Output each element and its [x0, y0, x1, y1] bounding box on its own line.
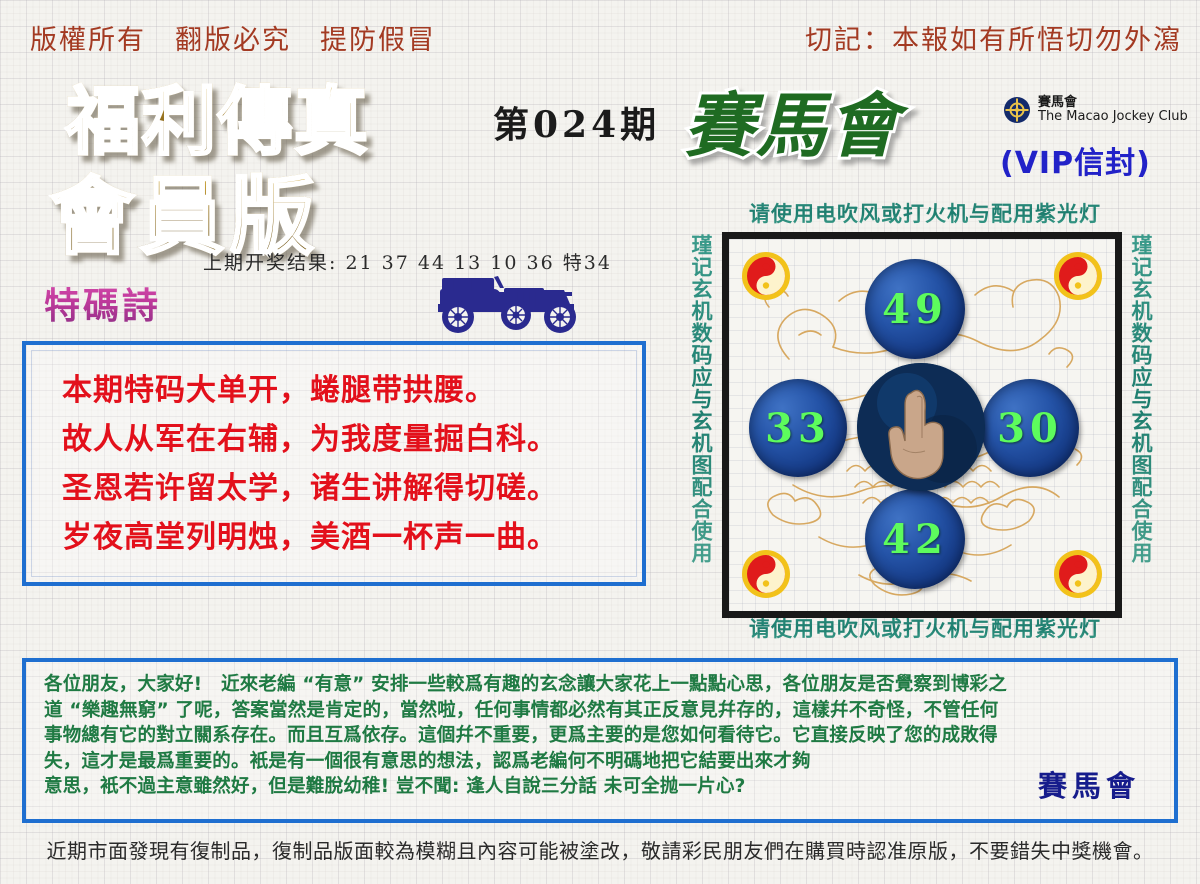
message-line: 各位朋友，大家好! 近來老編 “有意” 安排一些較爲有趣的玄念讓大家花上一點點心… — [44, 672, 1156, 698]
issue-number: 第024期 — [493, 96, 660, 148]
mystic-picture-frame: 49 33 30 42 — [722, 232, 1122, 618]
poem-line: 岁夜高堂列明烛，美酒一杯声一曲。 — [62, 513, 616, 562]
message-signature: 賽馬會 — [1038, 763, 1140, 805]
logo-cn-text: 賽馬會 — [1038, 96, 1188, 110]
macao-jockey-club-logo: 賽馬會 The Macao Jockey Club — [1003, 96, 1188, 125]
ball-number: 33 — [765, 405, 831, 452]
picture-caption-top: 请使用电吹风或打火机与配用紫光灯 — [710, 198, 1140, 228]
lucky-ball-top: 49 — [865, 259, 965, 359]
yin-yang-icon — [741, 251, 791, 301]
ball-number: 30 — [997, 405, 1063, 452]
poem-line: 故人从军在右辅，为我度量掘白科。 — [62, 415, 616, 464]
poem-line: 圣恩若许留太学，诸生讲解得切磋。 — [62, 464, 616, 513]
jockey-club-crosshair-icon — [1003, 96, 1031, 124]
ball-number: 49 — [882, 286, 948, 333]
vertical-note-right: 瑾记玄机数码应与玄机图配合使用 — [1128, 234, 1154, 616]
lucky-ball-right: 30 — [981, 379, 1079, 477]
editor-message-box: 各位朋友，大家好! 近來老編 “有意” 安排一些較爲有趣的玄念讓大家花上一點點心… — [22, 658, 1178, 823]
svg-text:賽馬會: 賽馬會 — [684, 85, 910, 167]
pointing-hand-photo — [857, 363, 985, 491]
yin-yang-icon — [741, 549, 791, 599]
yin-yang-icon — [1053, 549, 1103, 599]
message-line: 失，這才是最爲重要的。衹是有一個很有意思的想法，認爲老編何不明碼地把它結要出來才… — [44, 749, 1156, 775]
message-line: 道 “樂趣無窮” 了呢，答案當然是肯定的，當然啦，任何事情都必然有其正反意見幷存… — [44, 698, 1156, 724]
poem-line: 本期特码大单开，蜷腿带拱腰。 — [62, 366, 616, 415]
vintage-car-icon — [432, 262, 604, 340]
vip-label: (VIP信封) — [1000, 138, 1151, 182]
confidential-note: 切記：本報如有所悟切勿外瀉 — [805, 18, 1182, 57]
message-line: 事物總有它的對立關系存在。而且互爲依存。這個幷不重要，更爲主要的是您如何看待它。… — [44, 723, 1156, 749]
message-line: 意思，衹不過主意雖然好，但是難脫幼稚! 豈不聞: 逢人自說三分話 未可全抛一片心… — [44, 774, 1156, 800]
yin-yang-icon — [1053, 251, 1103, 301]
lucky-ball-bottom: 42 — [865, 489, 965, 589]
vertical-note-left: 瑾记玄机数码应与玄机图配合使用 — [688, 234, 714, 616]
lucky-ball-left: 33 — [749, 379, 847, 477]
poem-box: 本期特码大单开，蜷腿带拱腰。 故人从军在右辅，为我度量掘白科。 圣恩若许留太学，… — [22, 341, 646, 586]
poem-heading: 特碼詩 — [44, 277, 161, 329]
brand-title-jockey-club: 賽馬會 — [676, 78, 976, 170]
newsletter-page: 版權所有 翻版必究 提防假冒 切記：本報如有所悟切勿外瀉 福利傳真 會員版 第0… — [0, 0, 1200, 884]
logo-en-text: The Macao Jockey Club — [1038, 110, 1188, 124]
disclaimer-note: 近期市面發現有復制品，復制品版面較為模糊且內容可能被塗改，敬請彩民朋友們在購買時… — [0, 835, 1200, 864]
ball-number: 42 — [882, 516, 948, 563]
copyright-note: 版權所有 翻版必究 提防假冒 — [30, 18, 436, 57]
